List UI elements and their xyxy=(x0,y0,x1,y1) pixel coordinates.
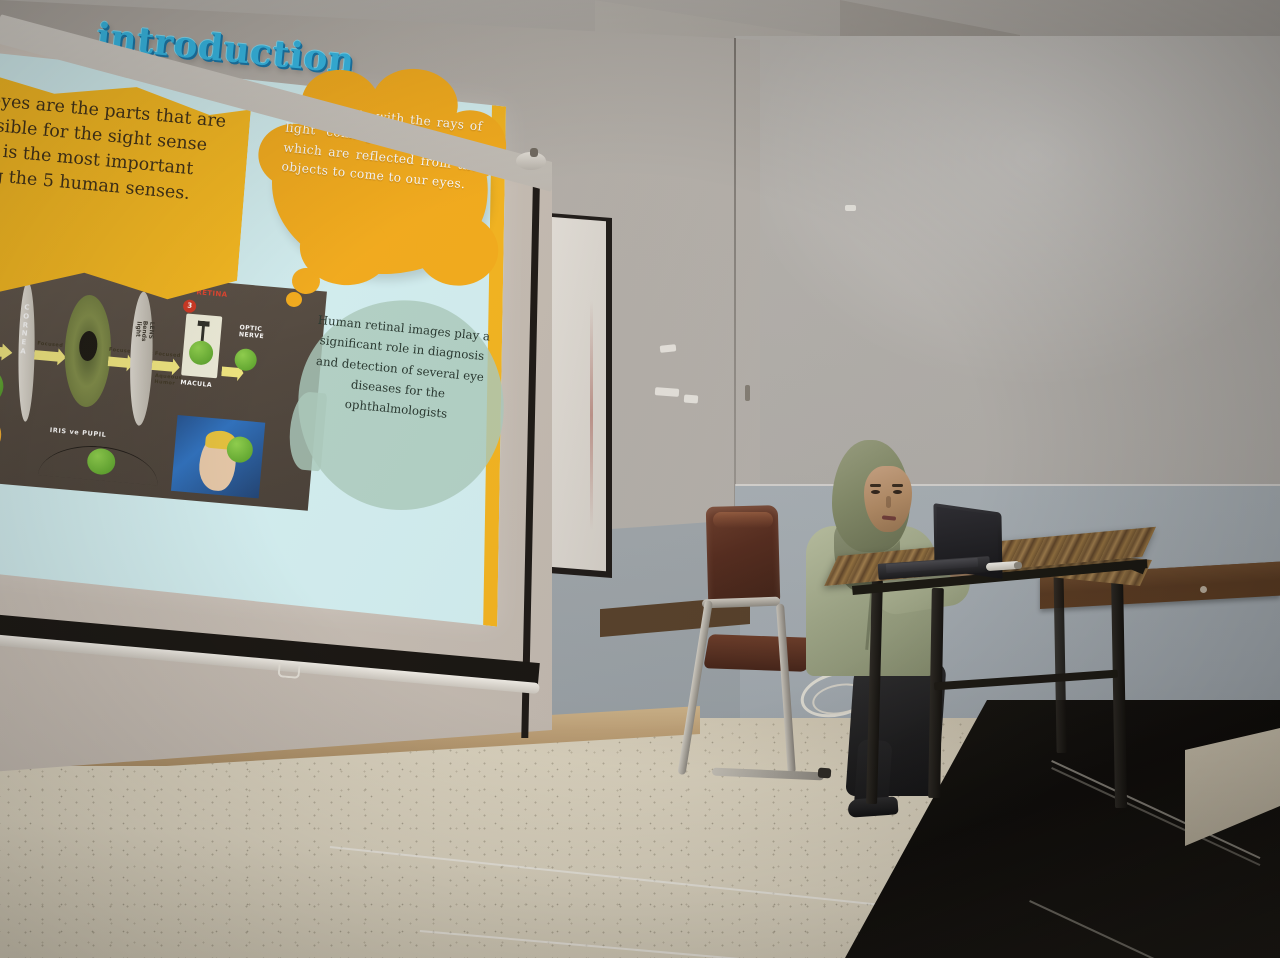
eye xyxy=(871,490,880,494)
chair-backrest-highlight xyxy=(713,512,773,528)
rail-knob xyxy=(1200,586,1207,593)
retina-marker: 3 xyxy=(183,299,197,313)
classroom-photo-scene: LIGHT CORNEA Focused Light Focused Light… xyxy=(0,0,1280,958)
sun-icon xyxy=(0,412,3,456)
diagram-label-aqueous: Aqueous Humor xyxy=(154,373,173,387)
slide-green-bubble-text: Human retinal images play a significant … xyxy=(307,310,492,428)
diagram-label-optic-nerve: OPTIC NERVE xyxy=(238,324,263,341)
diagram-label-lens: LENS Bends light xyxy=(133,320,154,340)
whiteboard-stain xyxy=(590,300,593,530)
eye-light-path-diagram: LIGHT CORNEA Focused Light Focused Light… xyxy=(0,261,327,510)
nose xyxy=(886,496,891,508)
wall-scuff xyxy=(845,205,856,211)
tree-icon xyxy=(0,364,5,408)
cloud-tail-small xyxy=(286,292,302,307)
arrow-icon xyxy=(0,341,13,361)
chair-seat[interactable] xyxy=(703,634,812,672)
projector-screen-pull-hook[interactable] xyxy=(277,664,300,679)
brain-vision-image xyxy=(171,415,265,498)
wall-scuff xyxy=(684,395,699,404)
wall-mark xyxy=(745,385,750,401)
diagram-label-macula: MACULA xyxy=(180,379,212,389)
roller-bracket xyxy=(530,148,538,157)
eyebrow xyxy=(892,484,903,487)
arrow-icon xyxy=(34,346,67,366)
lens-shape xyxy=(128,291,155,426)
presenter-remote-tip xyxy=(1014,562,1022,570)
eye xyxy=(893,490,902,494)
wall-scuff xyxy=(655,387,679,397)
eyebrow xyxy=(870,484,881,487)
diagram-label-iris-pupil: IRIS ve PUPIL xyxy=(49,426,106,439)
